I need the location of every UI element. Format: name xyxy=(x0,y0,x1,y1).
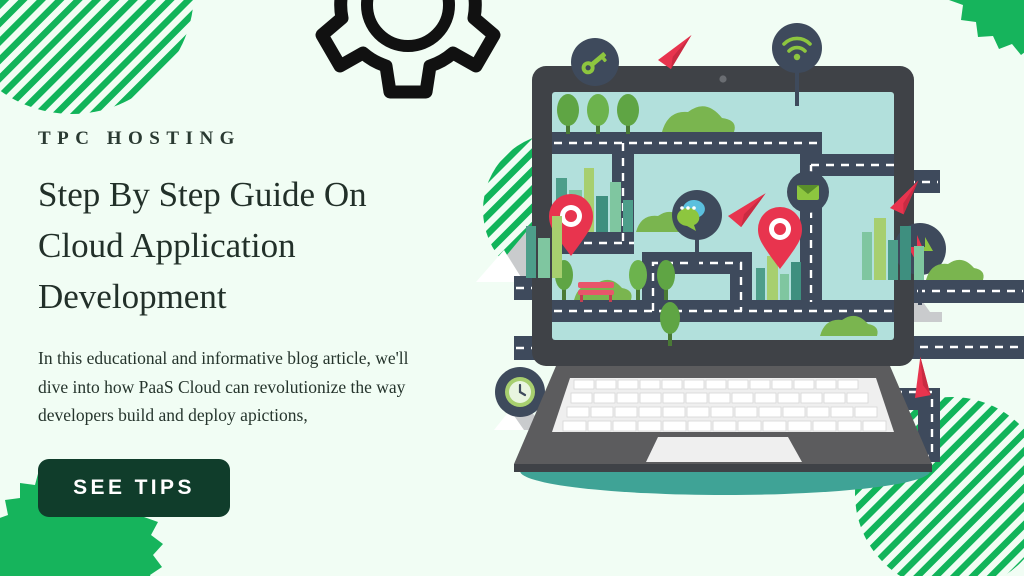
poster-canvas: TPC HOSTING Step By Step Guide On Cloud … xyxy=(0,0,1024,576)
body-paragraph: In this educational and informative blog… xyxy=(38,344,438,429)
striped-circle-top-left xyxy=(0,0,194,114)
laptop-base xyxy=(514,366,932,472)
brand-eyebrow: TPC HOSTING xyxy=(38,128,458,150)
text-column: TPC HOSTING Step By Step Guide On Cloud … xyxy=(38,128,458,517)
illustration xyxy=(470,0,1024,576)
page-title: Step By Step Guide On Cloud Application … xyxy=(38,170,428,322)
gear-icon xyxy=(322,0,494,92)
see-tips-button[interactable]: SEE TIPS xyxy=(38,459,230,517)
trackpad[interactable] xyxy=(646,437,802,462)
key-icon[interactable] xyxy=(571,38,619,86)
